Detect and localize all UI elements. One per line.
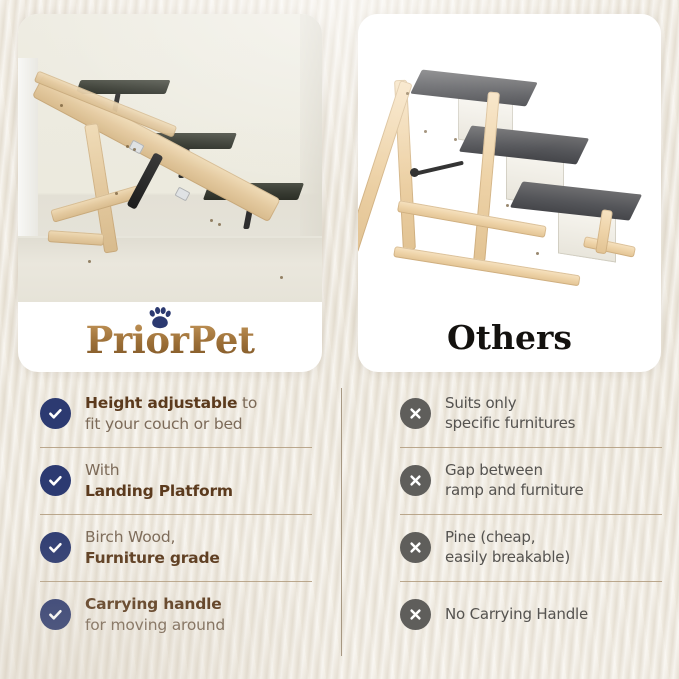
screw	[406, 92, 409, 95]
row-separator	[400, 447, 662, 448]
cross-icon	[400, 599, 431, 630]
screw	[60, 104, 63, 107]
pros-text: Carrying handle for moving around	[85, 594, 225, 635]
pros-text-rest: With	[85, 461, 119, 479]
pros-row: Height adjustable to fit your couch or b…	[40, 380, 340, 447]
pros-text: With Landing Platform	[85, 460, 233, 501]
check-icon	[40, 398, 71, 429]
screw	[424, 130, 427, 133]
studio-scene	[358, 14, 661, 302]
row-separator	[400, 514, 662, 515]
tread-mid	[459, 125, 589, 164]
cons-row: Suits only specific furnitures	[400, 380, 679, 447]
check-icon	[40, 532, 71, 563]
cons-text: No Carrying Handle	[445, 605, 588, 625]
screw	[133, 148, 136, 151]
screw	[210, 219, 213, 222]
priorpet-brand-row: PriorPet	[18, 302, 322, 372]
room-scene	[18, 14, 322, 302]
cons-text-line1: Pine (cheap,	[445, 528, 535, 546]
pros-text-line2: for moving around	[85, 616, 225, 634]
cons-text: Suits only specific furnitures	[445, 394, 575, 434]
pros-row: Birch Wood, Furniture grade	[40, 514, 340, 581]
cons-text: Pine (cheap, easily breakable)	[445, 528, 570, 568]
folding-bar-pivot	[410, 168, 419, 177]
product-cards: PriorPet	[0, 0, 679, 376]
screw	[536, 252, 539, 255]
screw	[218, 223, 221, 226]
cross-icon	[400, 398, 431, 429]
pros-row: With Landing Platform	[40, 447, 340, 514]
row-separator	[40, 447, 312, 448]
cons-text: Gap between ramp and furniture	[445, 461, 583, 501]
cons-text-line2: ramp and furniture	[445, 481, 583, 499]
pros-text-rest: Birch Wood,	[85, 528, 175, 546]
cons-row: Pine (cheap, easily breakable)	[400, 514, 679, 581]
priorpet-logo: PriorPet	[85, 316, 254, 359]
row-separator	[40, 514, 312, 515]
carrying-handle	[127, 152, 164, 210]
pros-text-line2: Landing Platform	[85, 482, 233, 500]
tread-bottom	[510, 181, 642, 220]
cons-text-line1: No Carrying Handle	[445, 605, 588, 623]
cons-text-line2: easily breakable)	[445, 548, 570, 566]
screw	[115, 192, 118, 195]
pros-text-line2: fit your couch or bed	[85, 415, 242, 433]
cons-text-line1: Gap between	[445, 461, 543, 479]
row-separator	[40, 581, 312, 582]
cons-text-line1: Suits only	[445, 394, 516, 412]
priorpet-product-photo	[18, 14, 322, 302]
check-icon	[40, 465, 71, 496]
check-icon	[40, 599, 71, 630]
pros-row: Carrying handle for moving around	[40, 581, 340, 648]
comparison-lists: Height adjustable to fit your couch or b…	[0, 380, 679, 679]
pros-text: Birch Wood, Furniture grade	[85, 527, 220, 568]
pros-text-bold: Height adjustable	[85, 394, 237, 412]
column-divider	[341, 388, 342, 656]
others-title: Others	[447, 318, 572, 357]
pros-text-line2: Furniture grade	[85, 549, 220, 567]
paw-print-icon	[147, 307, 173, 329]
cross-icon	[400, 465, 431, 496]
cons-column: Suits only specific furnitures Gap betwe…	[400, 380, 679, 648]
cross-icon	[400, 532, 431, 563]
row-separator	[400, 581, 662, 582]
comparison-infographic: PriorPet	[0, 0, 679, 679]
pros-text-rest: to	[237, 394, 257, 412]
base-rail	[393, 246, 580, 286]
screw	[506, 204, 509, 207]
screw	[126, 145, 129, 148]
screw	[454, 138, 457, 141]
others-card: Others	[358, 14, 661, 372]
pros-text-bold: Carrying handle	[85, 595, 222, 613]
others-product-photo	[358, 14, 661, 302]
others-brand-row: Others	[358, 302, 661, 372]
cons-text-line2: specific furnitures	[445, 414, 575, 432]
cons-row: Gap between ramp and furniture	[400, 447, 679, 514]
handle-clip-bottom	[174, 187, 190, 202]
cons-row: No Carrying Handle	[400, 581, 679, 648]
pros-text: Height adjustable to fit your couch or b…	[85, 393, 257, 434]
pros-column: Height adjustable to fit your couch or b…	[40, 380, 340, 648]
screw	[88, 260, 91, 263]
screw	[280, 276, 283, 279]
floor	[18, 238, 322, 302]
priorpet-card: PriorPet	[18, 14, 322, 372]
folding-bar	[416, 161, 464, 176]
